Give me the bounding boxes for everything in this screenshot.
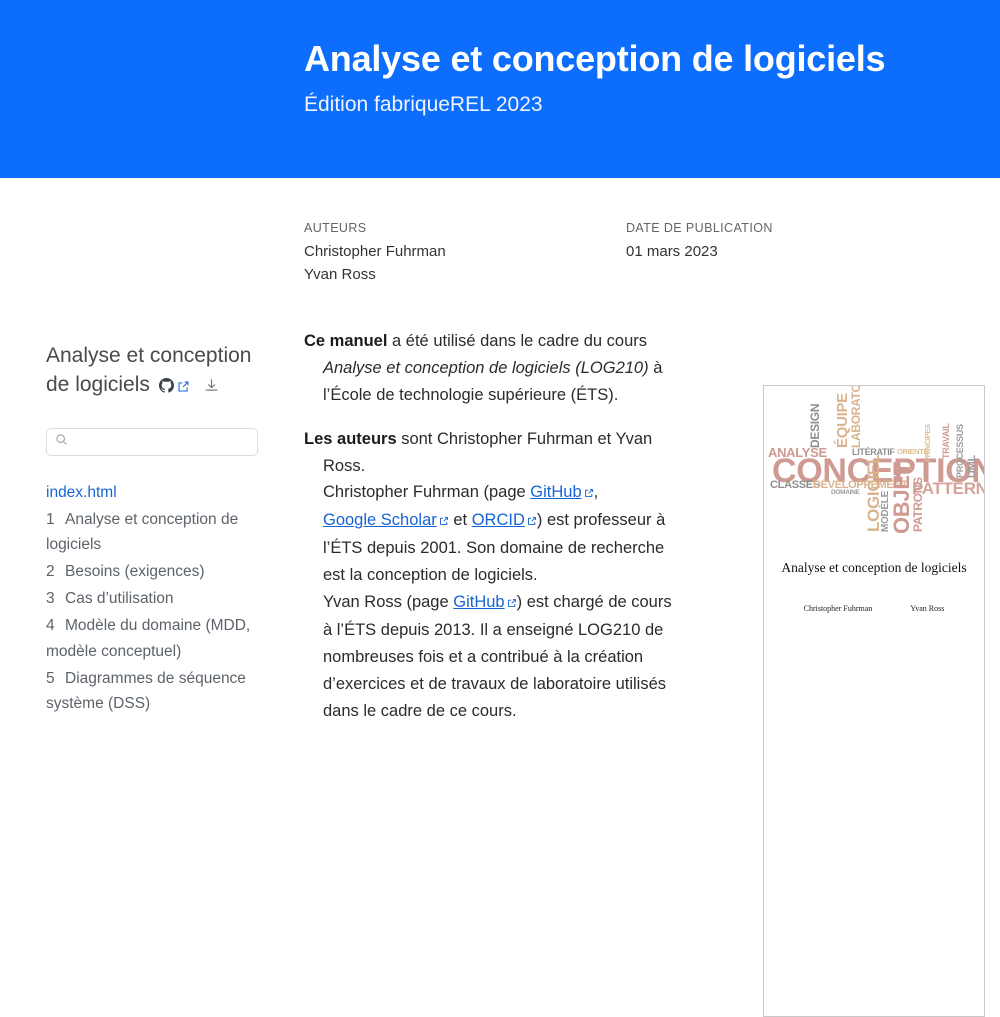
cover-wordcloud-word: LABORATOIRE xyxy=(850,385,862,448)
cover-authors: Christopher Fuhrman Yvan Ross xyxy=(764,604,984,613)
link-github-ross[interactable]: GitHub xyxy=(453,593,504,611)
sidebar-item-index[interactable]: index.html xyxy=(46,479,262,506)
bio-text: ) est chargé de cours à l’ÉTS depuis 201… xyxy=(323,593,672,720)
paragraph-manual: Ce manuel a été utilisé dans le cadre du… xyxy=(304,328,684,409)
bio-text: Yvan Ross (page xyxy=(323,593,453,611)
course-title-emphasis: Analyse et conception de logiciels (LOG2… xyxy=(323,359,649,377)
chapter-label: Analyse et conception de logiciels xyxy=(46,511,238,553)
list-item: 4Modèle du domaine (MDD, modèle conceptu… xyxy=(46,612,262,664)
chapter-label: Diagrammes de séquence système (DSS) xyxy=(46,670,246,712)
cover-wordcloud-word: PATRONS xyxy=(912,477,924,532)
sidebar-icon-group xyxy=(150,373,219,396)
cover-wordcloud-word: PRINCIPES xyxy=(924,424,932,462)
github-icon[interactable] xyxy=(159,373,174,402)
cover-wordcloud-word: DESIGN xyxy=(809,404,821,448)
external-link-icon xyxy=(584,480,594,507)
search-input[interactable] xyxy=(46,428,258,456)
chapter-label: Modèle du domaine (MDD, modèle conceptue… xyxy=(46,617,250,659)
chapter-number: 1 xyxy=(46,507,59,532)
sidebar-item-chapter-4[interactable]: 4Modèle du domaine (MDD, modèle conceptu… xyxy=(46,612,262,664)
bio-text: Christopher Fuhrman (page xyxy=(323,483,530,501)
bio-text: , xyxy=(594,483,599,501)
search-icon xyxy=(55,433,68,451)
paragraph-authors: Les auteurs sont Christopher Fuhrman et … xyxy=(304,426,684,725)
cover-wordcloud-word: UML xyxy=(967,455,978,478)
sidebar-nav: index.html 1Analyse et conception de log… xyxy=(46,479,262,717)
link-github-fuhrman[interactable]: GitHub xyxy=(530,483,581,501)
author-bio-fuhrman: Christopher Fuhrman (page GitHub, Google… xyxy=(323,479,684,589)
cover-wordcloud: CONCEPTIONPATTERNSANALYSECLASSESDÉVELOPP… xyxy=(764,402,985,542)
banner-text-block: Analyse et conception de logiciels Éditi… xyxy=(304,0,964,118)
list-item: 1Analyse et conception de logiciels xyxy=(46,506,262,558)
list-item: 5Diagrammes de séquence système (DSS) xyxy=(46,665,262,717)
cover-author-name: Yvan Ross xyxy=(910,604,944,613)
external-link-icon xyxy=(527,508,537,535)
download-icon[interactable] xyxy=(204,373,219,402)
cover-author-name: Christopher Fuhrman xyxy=(804,604,873,613)
author-name: Yvan Ross xyxy=(304,263,626,286)
cover-title: Analyse et conception de logiciels xyxy=(764,560,984,576)
author-bio-ross: Yvan Ross (page GitHub) est chargé de co… xyxy=(323,589,684,724)
publication-metadata: AUTEURS Christopher Fuhrman Yvan Ross DA… xyxy=(0,178,1000,328)
sidebar-item-chapter-3[interactable]: 3Cas d’utilisation xyxy=(46,585,262,612)
sidebar: Analyse et conception de logiciels index… xyxy=(46,328,266,717)
link-orcid[interactable]: ORCID xyxy=(472,511,525,529)
cover-wordcloud-word: DOMAINE xyxy=(831,490,860,497)
chapter-number: 4 xyxy=(46,613,59,638)
cover-wordcloud-word: ÉQUIPE xyxy=(835,393,850,448)
chapter-label: Cas d’utilisation xyxy=(65,590,174,607)
cover-wordcloud-word: PROCESSUS xyxy=(956,424,965,478)
list-item: index.html xyxy=(46,479,262,506)
chapter-number: 5 xyxy=(46,666,59,691)
external-link-icon xyxy=(507,590,517,617)
page-title: Analyse et conception de logiciels xyxy=(304,0,964,81)
list-item: 3Cas d’utilisation xyxy=(46,585,262,612)
page-banner: Analyse et conception de logiciels Éditi… xyxy=(0,0,1000,178)
publication-date-block: DATE DE PUBLICATION 01 mars 2023 xyxy=(626,218,948,287)
chapter-number: 3 xyxy=(46,586,59,611)
list-item: 2Besoins (exigences) xyxy=(46,558,262,585)
external-link-icon xyxy=(439,508,449,535)
sidebar-item-chapter-1[interactable]: 1Analyse et conception de logiciels xyxy=(46,506,262,558)
main-layout: Analyse et conception de logiciels index… xyxy=(0,328,1000,741)
sidebar-item-chapter-5[interactable]: 5Diagrammes de séquence système (DSS) xyxy=(46,665,262,717)
chapter-number: 2 xyxy=(46,559,59,584)
publication-date-value: 01 mars 2023 xyxy=(626,240,948,263)
cover-wordcloud-word: TRAVAIL xyxy=(942,423,951,459)
paragraph-lead: Ce manuel xyxy=(304,332,387,350)
paragraph-text: a été utilisé dans le cadre du cours xyxy=(387,332,647,350)
page-subtitle: Édition fabriqueREL 2023 xyxy=(304,81,964,118)
sidebar-title: Analyse et conception de logiciels xyxy=(46,328,266,402)
external-link-icon[interactable] xyxy=(177,373,190,402)
authors-label: AUTEURS xyxy=(304,218,626,238)
sidebar-item-chapter-2[interactable]: 2Besoins (exigences) xyxy=(46,558,262,585)
sidebar-title-text: Analyse et conception de logiciels xyxy=(46,344,251,396)
publication-date-label: DATE DE PUBLICATION xyxy=(626,218,948,238)
chapter-label: Besoins (exigences) xyxy=(65,563,205,580)
book-cover-image: CONCEPTIONPATTERNSANALYSECLASSESDÉVELOPP… xyxy=(763,385,985,1017)
author-name: Christopher Fuhrman xyxy=(304,240,626,263)
link-google-scholar[interactable]: Google Scholar xyxy=(323,511,437,529)
authors-block: AUTEURS Christopher Fuhrman Yvan Ross xyxy=(304,218,626,287)
bio-text: et xyxy=(449,511,472,529)
paragraph-lead: Les auteurs xyxy=(304,430,397,448)
metadata-row: AUTEURS Christopher Fuhrman Yvan Ross DA… xyxy=(304,218,948,287)
cover-wordcloud-word: OBJET xyxy=(891,462,913,534)
search-field[interactable] xyxy=(73,433,249,450)
main-content: Ce manuel a été utilisé dans le cadre du… xyxy=(304,328,684,741)
